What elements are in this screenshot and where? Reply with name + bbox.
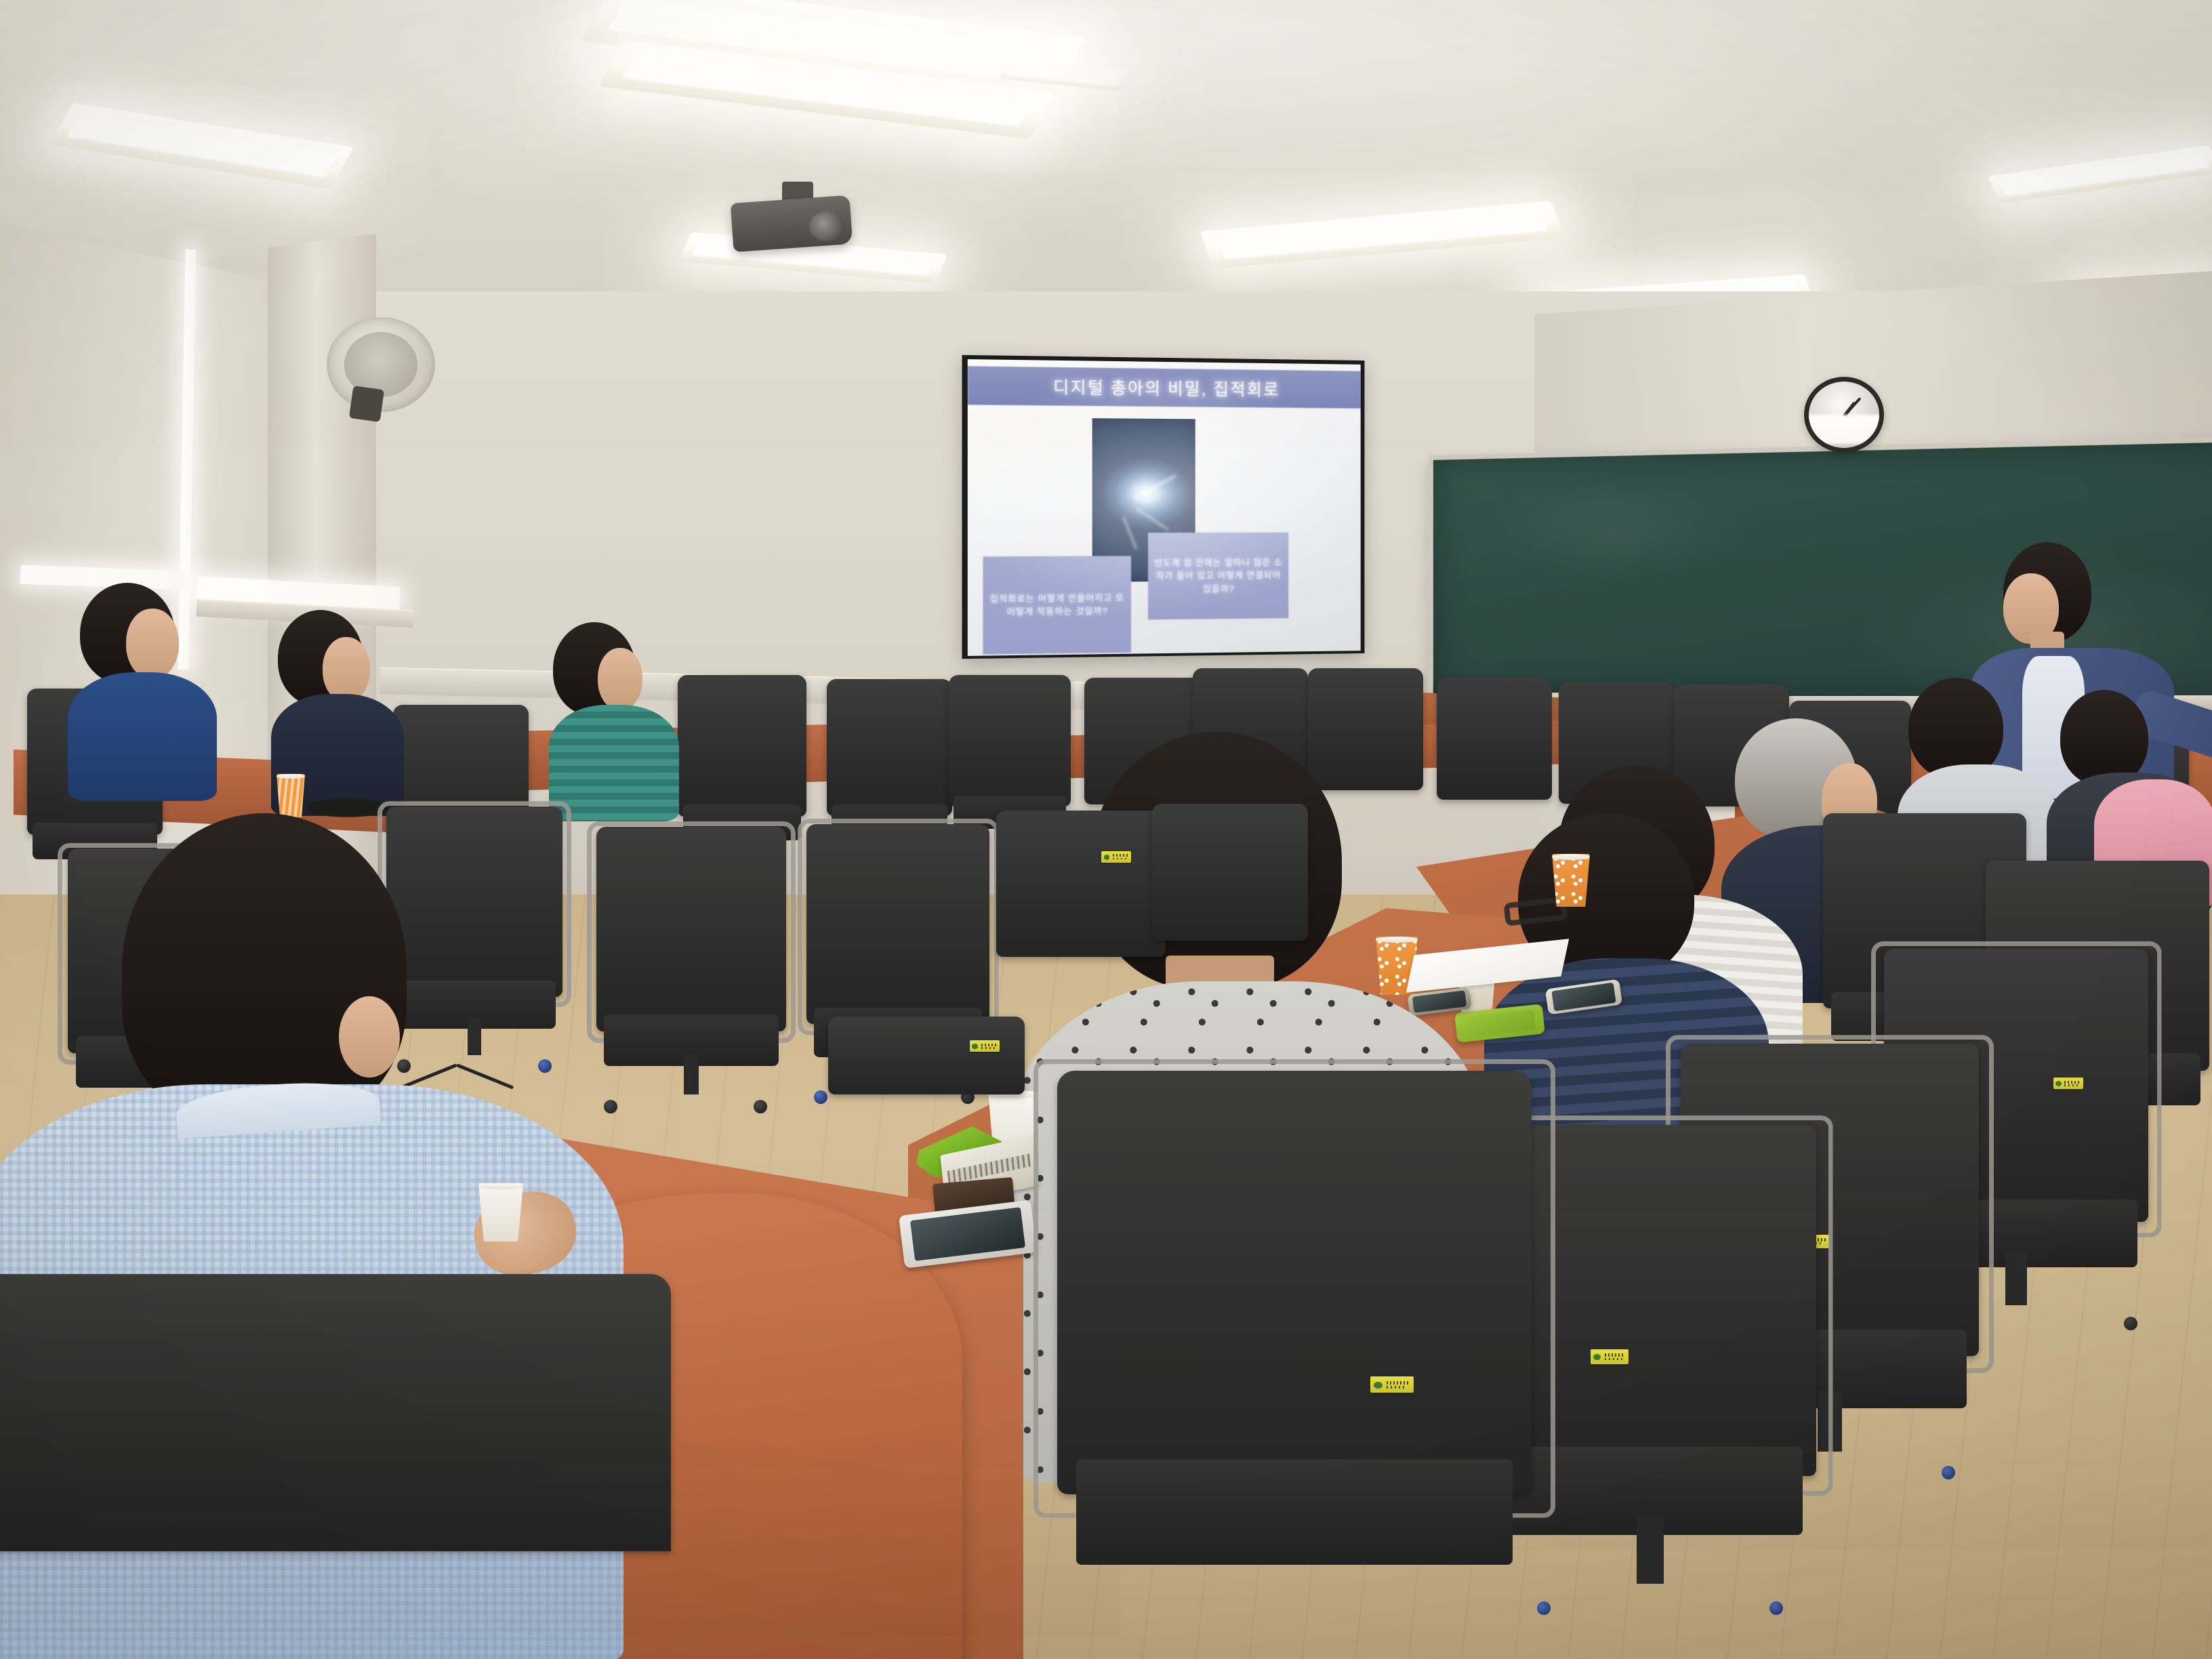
clock-minute-hand: [1843, 397, 1862, 417]
tag-barcode: [1605, 1358, 1622, 1360]
chair-back: [678, 675, 806, 817]
chair-post: [2005, 1252, 2026, 1305]
wall-clock: [1804, 377, 1884, 453]
ear: [339, 996, 400, 1078]
chair[interactable]: [1152, 804, 1308, 994]
ceiling-projector: [722, 182, 858, 256]
chair-caster: [1769, 1601, 1783, 1615]
tag-barcode: [981, 1047, 995, 1049]
chair-caster: [1942, 1466, 1955, 1479]
tag-barcode: [981, 1044, 998, 1046]
slide-title: 디지털 총아의 비밀, 집적회로: [968, 366, 1361, 408]
cup-rim: [1551, 854, 1591, 860]
chair[interactable]: [0, 1274, 671, 1659]
tag-logo-icon: [1104, 855, 1110, 859]
projected-slide: 디지털 총아의 비밀, 집적회로 집적회로는 어떻게 만들어지고 또 어떻게 작…: [968, 359, 1361, 656]
person-attendee-left-1: [68, 583, 224, 800]
tag-barcode: [2064, 1081, 2081, 1084]
tag-logo-icon: [1374, 1382, 1382, 1389]
chair-back: [828, 1017, 1025, 1094]
chair-asset-tag: [1591, 1349, 1629, 1364]
torso: [68, 672, 217, 801]
chair-caster: [814, 1090, 827, 1104]
cup-rim: [276, 774, 306, 779]
tag-logo-icon: [972, 1044, 978, 1048]
tag-barcode: [1113, 858, 1126, 860]
phone-screen: [910, 1207, 1026, 1261]
fan-mount: [349, 386, 384, 422]
tag-barcode: [1605, 1353, 1625, 1357]
chair-post: [1637, 1515, 1663, 1584]
tag-logo-icon: [1593, 1354, 1601, 1361]
tag-barcode: [1387, 1386, 1406, 1389]
slide-text-box-right: 반도체 칩 안에는 얼마나 많은 소자가 들어 있고 어떻게 연결되어 있을까?: [1148, 533, 1288, 620]
person-attendee-left-3: [549, 622, 684, 819]
face: [598, 648, 642, 710]
chair-asset-tag: [970, 1040, 1000, 1052]
chair-asset-tag: [1370, 1376, 1414, 1393]
chair[interactable]: [996, 811, 1166, 1014]
wall-mounted-fan: [327, 317, 449, 419]
chair[interactable]: [1057, 1071, 1532, 1659]
chair-back: [0, 1274, 671, 1551]
tag-barcode: [2064, 1084, 2078, 1086]
cup-rim: [477, 1183, 525, 1189]
chair[interactable]: [828, 1017, 1025, 1125]
projection-screen: 디지털 총아의 비밀, 집적회로 집적회로는 어떻게 만들어지고 또 어떻게 작…: [962, 355, 1365, 659]
tag-barcode: [1387, 1381, 1410, 1385]
face: [323, 637, 370, 702]
paper-cup-orange-stripe[interactable]: [276, 774, 305, 817]
tag-logo-icon: [2055, 1081, 2062, 1086]
paper-cup-white-2[interactable]: [478, 1183, 523, 1242]
chair-seat: [1076, 1459, 1513, 1565]
torso: [549, 705, 679, 821]
seminar-room-photo: 디지털 총아의 비밀, 집적회로 집적회로는 어떻게 만들어지고 또 어떻게 작…: [0, 0, 2212, 1659]
tag-barcode: [1113, 854, 1129, 857]
chair-caster: [754, 1100, 767, 1113]
paper-cup-orange-polka[interactable]: [1552, 854, 1590, 907]
chair-asset-tag: [1101, 851, 1131, 863]
chair-asset-tag: [2053, 1078, 2083, 1089]
head: [122, 813, 407, 1125]
clock-glare: [1804, 415, 1882, 444]
face: [126, 609, 179, 679]
projector-lens-icon: [809, 211, 844, 241]
chair-post: [684, 1054, 699, 1094]
chair-back: [996, 811, 1166, 957]
slide-text-box-left: 집적회로는 어떻게 만들어지고 또 어떻게 작동하는 것일까?: [983, 556, 1131, 654]
chair[interactable]: [596, 827, 786, 1111]
chair-back: [1152, 804, 1308, 941]
chair-back: [827, 679, 952, 816]
